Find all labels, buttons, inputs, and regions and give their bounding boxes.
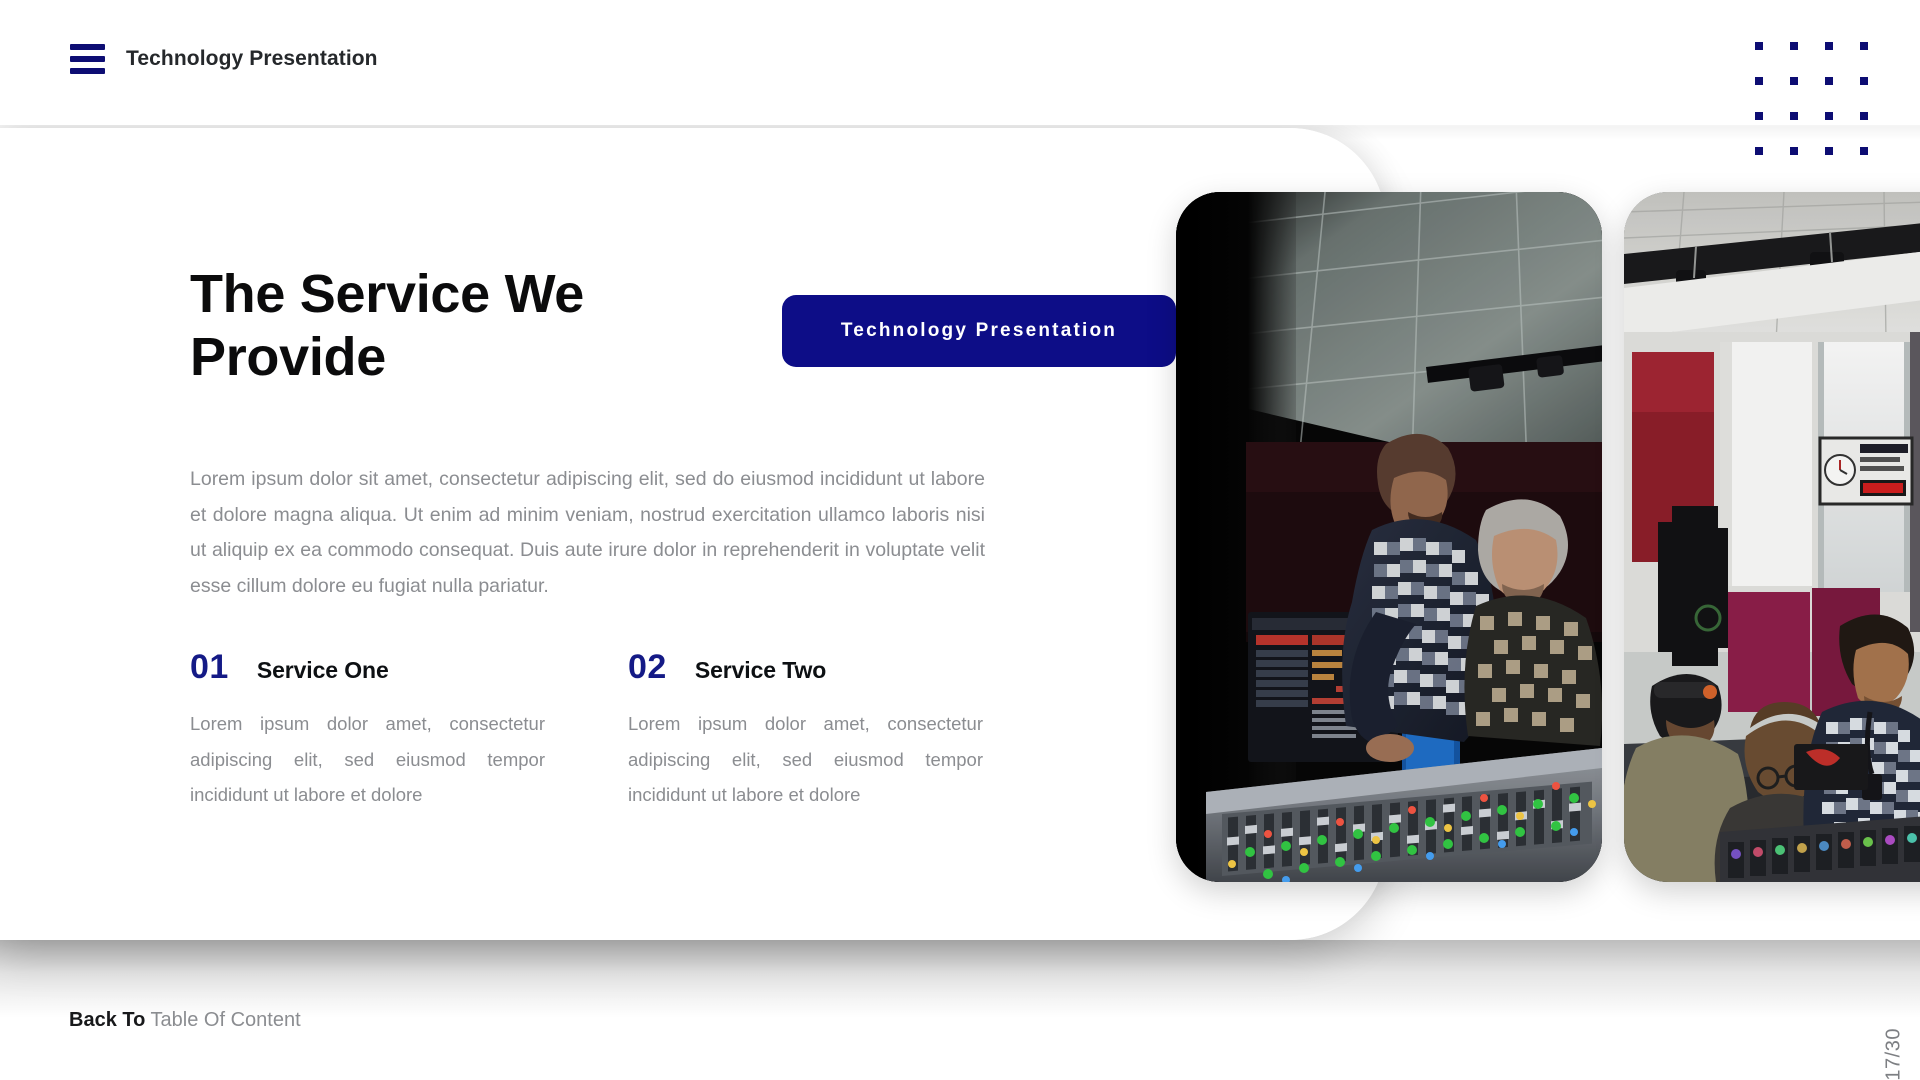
dot [1755, 77, 1763, 85]
dot [1755, 42, 1763, 50]
body-paragraph: Lorem ipsum dolor sit amet, consectetur … [190, 462, 985, 604]
service-heading: 01 Service One [190, 650, 628, 684]
header-title: Technology Presentation [126, 44, 378, 74]
service-description: Lorem ipsum dolor amet, consectetur adip… [628, 706, 983, 813]
studio-console-image [1176, 192, 1602, 882]
hamburger-bar-1 [70, 44, 105, 50]
photo-card-control-room [1624, 192, 1920, 882]
dot [1790, 112, 1798, 120]
table-of-content-label: Table Of Content [151, 1009, 301, 1031]
control-room-image [1624, 192, 1920, 882]
service-heading: 02 Service Two [628, 650, 988, 684]
page-number: 17/30 [1883, 1028, 1906, 1080]
dot [1790, 147, 1798, 155]
presentation-slide: Technology Presentation The Service We P… [0, 0, 1920, 1080]
photo-card-studio-console [1176, 192, 1602, 882]
dot [1825, 147, 1833, 155]
dot [1825, 42, 1833, 50]
technology-presentation-button[interactable]: Technology Presentation [782, 295, 1176, 367]
dot [1860, 112, 1868, 120]
service-description: Lorem ipsum dolor amet, consectetur adip… [190, 706, 545, 813]
hamburger-bar-3 [70, 68, 105, 74]
dot [1860, 42, 1868, 50]
service-number: 01 [190, 650, 229, 684]
dot [1755, 112, 1763, 120]
hamburger-icon[interactable] [70, 44, 105, 74]
dot-grid-icon [1755, 42, 1868, 155]
slide-header: Technology Presentation [0, 0, 1920, 125]
page-title: The Service We Provide [190, 263, 750, 389]
back-to-label: Back To [69, 1009, 145, 1031]
list-item: 01 Service One Lorem ipsum dolor amet, c… [190, 650, 628, 813]
dot [1790, 77, 1798, 85]
back-to-table-of-content-link[interactable]: Back To Table Of Content [69, 1006, 301, 1034]
service-number: 02 [628, 650, 667, 684]
service-title: Service Two [695, 659, 826, 682]
list-item: 02 Service Two Lorem ipsum dolor amet, c… [628, 650, 988, 813]
service-list: 01 Service One Lorem ipsum dolor amet, c… [190, 650, 990, 813]
photo-gallery [1176, 192, 1920, 882]
dot [1825, 77, 1833, 85]
dot [1860, 147, 1868, 155]
dot [1755, 147, 1763, 155]
dot [1860, 77, 1868, 85]
dot [1825, 112, 1833, 120]
dot [1790, 42, 1798, 50]
service-title: Service One [257, 659, 389, 682]
hamburger-bar-2 [70, 56, 105, 62]
